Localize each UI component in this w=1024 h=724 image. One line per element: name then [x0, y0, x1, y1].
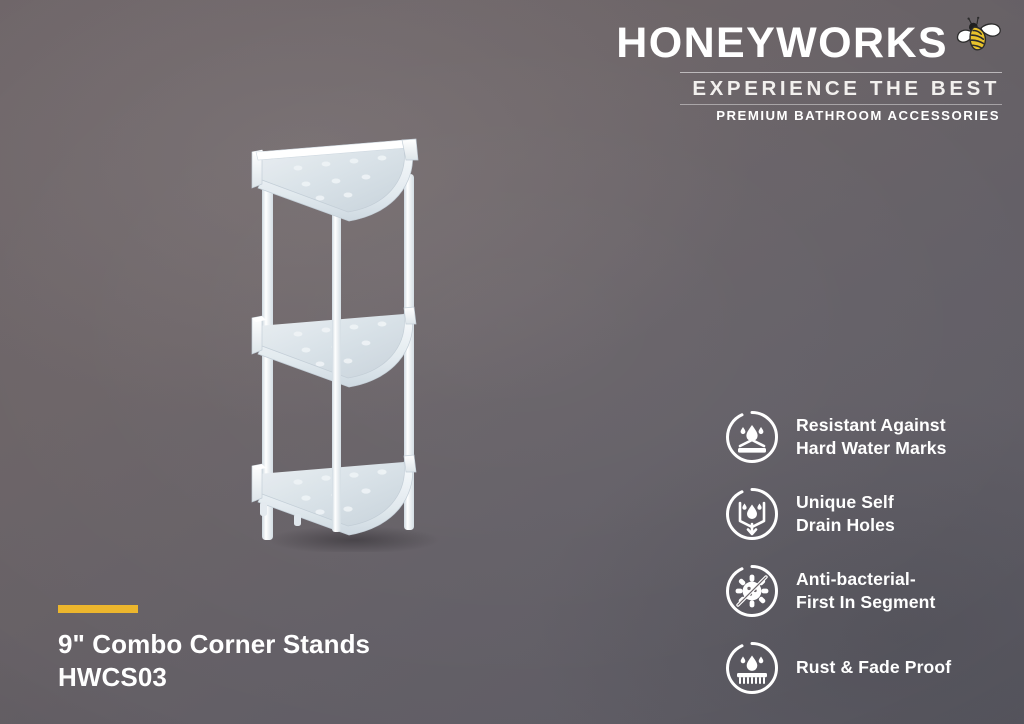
product-title-block: 9" Combo Corner Stands HWCS03: [58, 605, 370, 694]
feature-item-drain-holes: Unique Self Drain Holes: [724, 475, 1014, 552]
feature-label: Rust & Fade Proof: [796, 656, 951, 679]
product-image: [236, 122, 472, 552]
brand-wordmark-row: HONEYWORKS: [602, 22, 1002, 65]
brand-wordmark: HONEYWORKS: [616, 22, 948, 65]
brand-tagline-primary: EXPERIENCE THE BEST: [602, 78, 1002, 100]
product-title: 9" Combo Corner Stands: [58, 628, 370, 661]
product-code: HWCS03: [58, 661, 370, 694]
feature-label: Anti-bacterial- First In Segment: [796, 568, 935, 613]
logo-divider-bottom: [680, 104, 1002, 105]
poster-canvas: HONEYWORKS: [0, 0, 1024, 724]
feature-item-hard-water: Resistant Against Hard Water Marks: [724, 398, 1014, 475]
logo-divider-top: [680, 72, 1002, 73]
brand-tagline-secondary: PREMIUM BATHROOM ACCESSORIES: [602, 109, 1002, 123]
feature-label: Resistant Against Hard Water Marks: [796, 414, 947, 459]
brand-logo: HONEYWORKS: [602, 22, 1002, 122]
feature-item-rust-fade: Rust & Fade Proof: [724, 629, 1014, 706]
feature-list: Resistant Against Hard Water Marks Uniqu…: [724, 398, 1014, 706]
feature-label: Unique Self Drain Holes: [796, 491, 895, 536]
drain-holes-droplet-arrow-icon: [724, 486, 780, 542]
rust-fade-droplets-grate-icon: [724, 640, 780, 696]
anti-bacterial-germ-slash-icon: [724, 563, 780, 619]
feature-item-anti-bacterial: Anti-bacterial- First In Segment: [724, 552, 1014, 629]
accent-bar: [58, 605, 138, 613]
water-droplets-on-surface-icon: [724, 409, 780, 465]
bee-icon: [956, 16, 1002, 56]
